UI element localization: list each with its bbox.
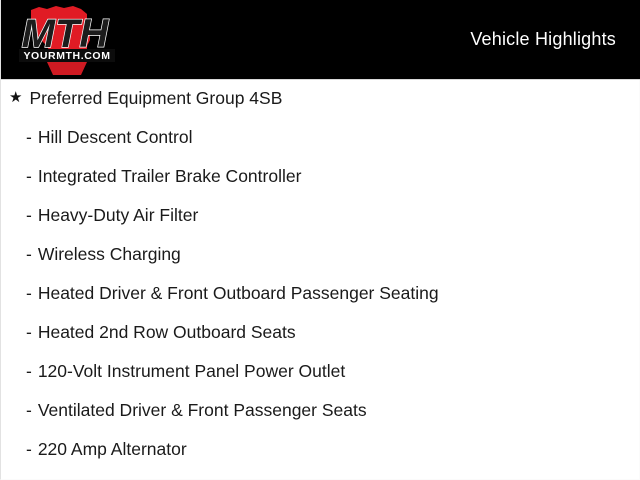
dash-bullet-icon: - [26,283,32,304]
dash-bullet-icon: - [26,361,32,382]
minnesota-shape-tail [47,62,87,75]
list-item-label: Heavy-Duty Air Filter [38,205,198,226]
list-item-label: Ventilated Driver & Front Passenger Seat… [38,400,367,421]
dash-bullet-icon: - [26,127,32,148]
page-title: Vehicle Highlights [470,29,640,50]
list-item: - 220 Amp Alternator [1,430,640,469]
list-item-label: 220 Amp Alternator [38,439,187,460]
list-item: - Hill Descent Control [1,118,640,157]
highlights-list: ★ Preferred Equipment Group 4SB - Hill D… [1,79,640,469]
yourmth-text: YOURMTH.COM [23,50,110,62]
list-item-label: Preferred Equipment Group 4SB [29,88,282,109]
list-item: - Heavy-Duty Air Filter [1,196,640,235]
dash-bullet-icon: - [26,322,32,343]
dash-bullet-icon: - [26,244,32,265]
list-item: - Heated 2nd Row Outboard Seats [1,313,640,352]
list-item-label: Heated Driver & Front Outboard Passenger… [38,283,439,304]
list-item: - Heated Driver & Front Outboard Passeng… [1,274,640,313]
mth-logo-icon: MTH YOURMTH.COM [1,0,129,79]
list-item: - Ventilated Driver & Front Passenger Se… [1,391,640,430]
list-item: - Wireless Charging [1,235,640,274]
list-item-label: Wireless Charging [38,244,181,265]
dash-bullet-icon: - [26,400,32,421]
vehicle-highlights-page: Vehicle Highlights MTH YOURMTH.COM ★ Pre… [0,0,640,480]
mth-logo[interactable]: MTH YOURMTH.COM [1,0,129,79]
list-item-label: 120-Volt Instrument Panel Power Outlet [38,361,345,382]
list-item-label: Hill Descent Control [38,127,193,148]
list-item-label: Integrated Trailer Brake Controller [38,166,302,187]
list-item: - 120-Volt Instrument Panel Power Outlet [1,352,640,391]
list-item-label: Heated 2nd Row Outboard Seats [38,322,296,343]
list-item: - Integrated Trailer Brake Controller [1,157,640,196]
dash-bullet-icon: - [26,439,32,460]
list-item: ★ Preferred Equipment Group 4SB [1,79,640,118]
dash-bullet-icon: - [26,166,32,187]
star-icon: ★ [9,90,22,105]
dash-bullet-icon: - [26,205,32,226]
